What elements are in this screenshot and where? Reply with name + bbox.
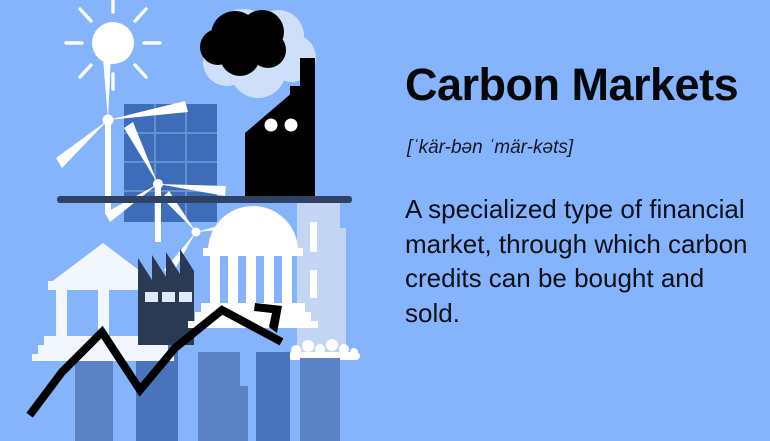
- bar-5: [300, 358, 340, 441]
- definition-text: A specialized type of financial market, …: [405, 192, 755, 330]
- bar-6: [216, 386, 248, 441]
- illustration-panel: [0, 0, 390, 441]
- text-panel: Carbon Markets [ˈkär-bən ˈmär-kəts] A sp…: [405, 0, 770, 441]
- bar-4: [256, 352, 290, 441]
- office-tower-icon: [297, 203, 346, 358]
- pronunciation-text: [ˈkär-bən ˈmär-kəts]: [407, 138, 573, 157]
- ledge: [57, 196, 352, 203]
- page-title: Carbon Markets: [405, 62, 738, 107]
- carbon-markets-card: Carbon Markets [ˈkär-bən ˈmär-kəts] A sp…: [0, 0, 770, 441]
